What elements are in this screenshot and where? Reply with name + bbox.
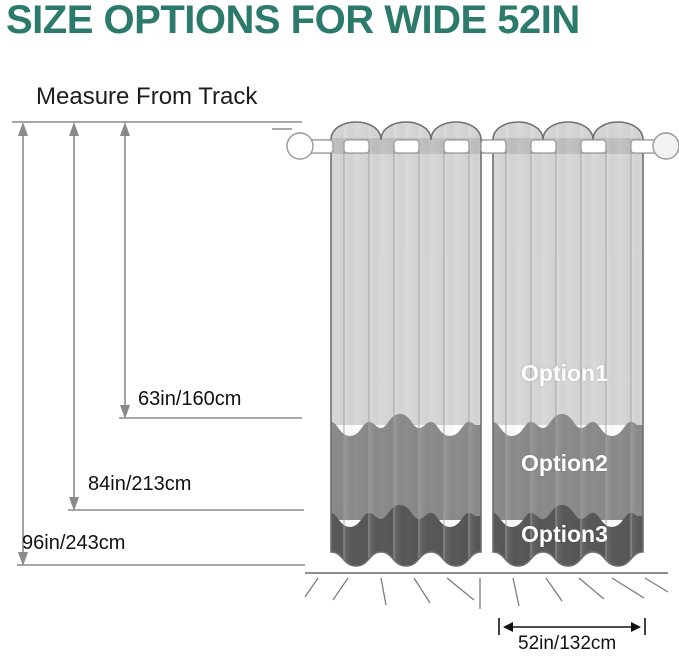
dimension-label-63in: 63in/160cm xyxy=(138,388,241,411)
dimension-lines-group xyxy=(12,122,305,566)
rod-finial-right xyxy=(653,133,679,159)
option1-label: Option1 xyxy=(521,360,608,387)
curtain-panel-right xyxy=(487,110,649,580)
option3-label: Option3 xyxy=(521,521,608,548)
curtain-scene xyxy=(0,0,679,660)
dimension-label-52in-width: 52in/132cm xyxy=(518,633,616,655)
rod-finial-left xyxy=(287,133,313,159)
size-options-diagram: SIZE OPTIONS FOR WIDE 52IN Measure From … xyxy=(0,0,679,660)
dimension-84in xyxy=(68,122,304,511)
curtain-panel-left xyxy=(325,110,487,580)
dimension-label-96in: 96in/243cm xyxy=(22,532,125,555)
option2-label: Option2 xyxy=(521,450,608,477)
dimension-label-84in: 84in/213cm xyxy=(88,473,191,496)
dimension-63in xyxy=(119,122,302,419)
floor xyxy=(305,573,668,609)
dimension-96in xyxy=(17,122,305,566)
